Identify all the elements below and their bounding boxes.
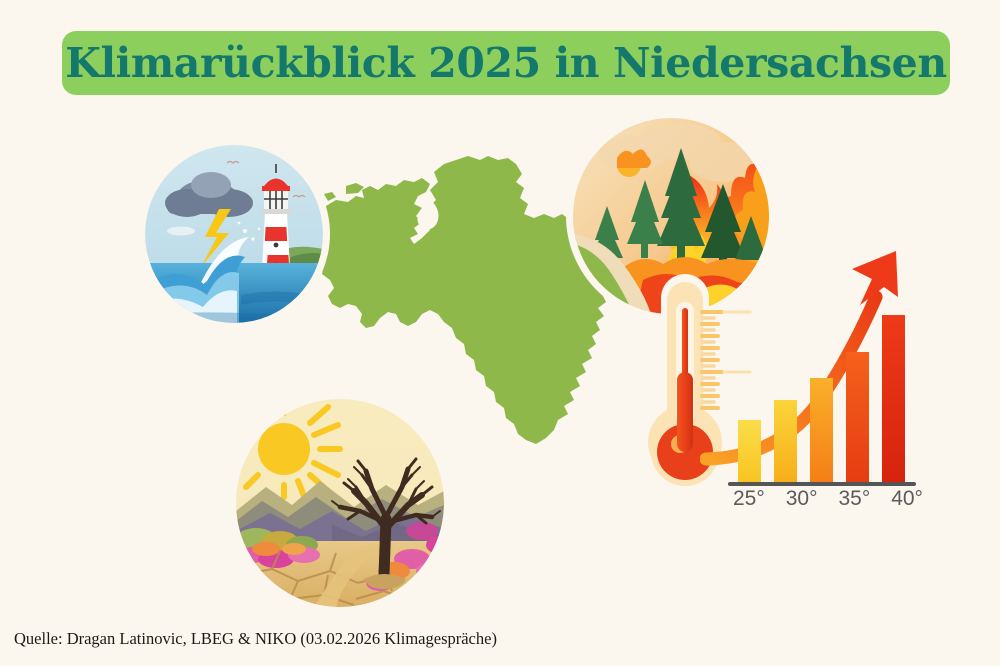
bar-4	[846, 352, 869, 483]
map-island-spot-1	[346, 183, 364, 194]
bar-1	[738, 420, 761, 483]
chart-tick-label-0: 25°	[733, 487, 765, 511]
chart-tick-label-3: 40°	[891, 487, 923, 511]
chart-tick-label-1: 30°	[786, 487, 818, 511]
chart-axis-labels: 25° 30° 35° 40°	[733, 487, 923, 511]
page-title: Klimarückblick 2025 in Niedersachsen	[65, 43, 947, 84]
bar-3	[810, 378, 833, 483]
map-island-spot-2	[324, 192, 336, 201]
trend-arrow-icon	[706, 251, 898, 459]
thermometer-mercury-thick	[677, 372, 693, 452]
illustration-storm	[145, 145, 323, 323]
title-banner: Klimarückblick 2025 in Niedersachsen	[62, 31, 950, 95]
sea-stripe-2	[145, 312, 323, 323]
temperature-bar-chart	[700, 245, 930, 495]
storm-small-cloud	[167, 227, 195, 236]
poster-canvas: Klimarückblick 2025 in Niedersachsen	[0, 0, 1000, 666]
chart-bars	[738, 315, 905, 483]
source-citation: Quelle: Dragan Latinovic, LBEG & NIKO (0…	[14, 629, 497, 649]
bar-5	[882, 315, 905, 483]
chart-tick-label-2: 35°	[838, 487, 870, 511]
bar-2	[774, 400, 797, 483]
chart-axis-line	[728, 482, 916, 486]
illustration-drought	[236, 399, 444, 607]
